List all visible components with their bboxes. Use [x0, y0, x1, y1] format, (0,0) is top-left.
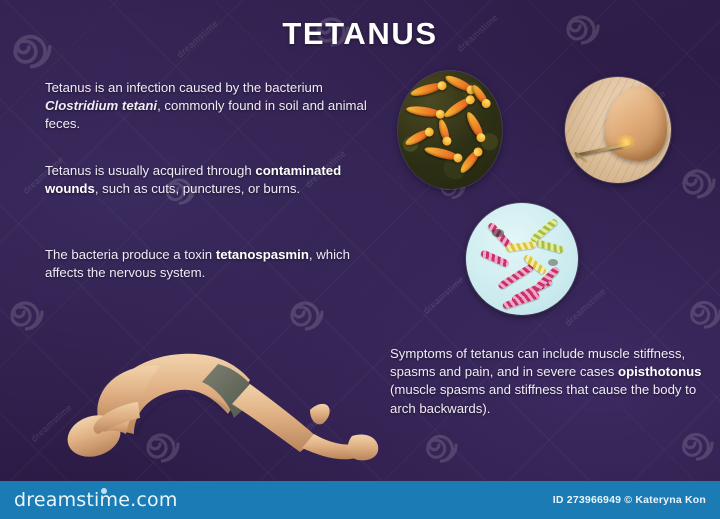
paragraph-transmission: Tetanus is usually acquired through cont…	[45, 162, 345, 198]
watermark-text: dreamstime	[421, 274, 466, 316]
paragraph-intro: Tetanus is an infection caused by the ba…	[45, 79, 390, 134]
spiral-swirl-icon	[420, 426, 458, 464]
dreamstime-footer-bar: dreamstime.com ID 273966949 © Kateryna K…	[0, 481, 720, 519]
thigh	[232, 384, 318, 452]
pathogen-name: Clostridium tetani	[45, 98, 157, 113]
spiral-swirl-icon	[4, 292, 44, 332]
dreamstime-logo-text: dreamstime.com	[14, 489, 178, 511]
puncture-glow	[617, 135, 635, 149]
opisthotonus-term: opisthotonus	[618, 364, 702, 379]
intro-line-1: Tetanus is an infection caused by the ba…	[45, 80, 323, 95]
foot-lower	[348, 434, 379, 460]
paragraph-symptoms: Symptoms of tetanus can include muscle s…	[390, 345, 710, 418]
tetanus-infographic: dreamstime dreamstime dreamstime dreamst…	[0, 0, 720, 519]
protein-sheet	[492, 229, 504, 237]
symptoms-line-1: Symptoms of tetanus can include muscle	[390, 346, 630, 361]
page-title: TETANUS	[0, 16, 720, 52]
foot-upper	[310, 404, 330, 424]
spiral-swirl-icon	[676, 160, 716, 200]
transmission-line-2-tail: , such as cuts,	[95, 181, 179, 196]
tetanospasmin-term: tetanospasmin	[216, 247, 309, 262]
foot-stepping-on-rusty-nail-image	[565, 77, 671, 183]
transmission-line-3: punctures, or burns.	[183, 181, 300, 196]
spiral-swirl-icon	[684, 292, 720, 330]
logo-dot-icon	[101, 488, 107, 494]
toxin-line-1: The bacteria produce a toxin	[45, 247, 216, 262]
dreamstime-logo[interactable]: dreamstime.com	[14, 489, 178, 511]
opisthotonus-body-posture-image	[42, 318, 387, 463]
symptoms-line-4: (muscle spasms and stiffness	[390, 382, 563, 397]
symptoms-line-3: and in severe cases	[497, 364, 618, 379]
spiral-swirl-icon	[676, 424, 714, 462]
intro-line-2-tail: , commonly found in soil	[157, 98, 298, 113]
toxin-line-1-tail: ,	[309, 247, 313, 262]
clostridium-tetani-bacteria-image	[398, 71, 502, 189]
transmission-line-1: Tetanus is usually acquired through	[45, 163, 252, 178]
image-credit: ID 273966949 © Kateryna Kon	[553, 494, 706, 506]
tetanospasmin-toxin-molecule-image	[466, 203, 578, 315]
paragraph-toxin: The bacteria produce a toxin tetanospasm…	[45, 246, 385, 282]
protein-sheet	[548, 259, 558, 266]
